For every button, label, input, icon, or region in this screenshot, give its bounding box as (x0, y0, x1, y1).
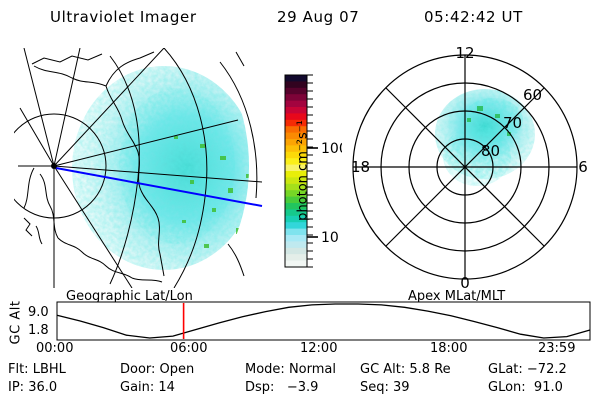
status-field: Door: Open (120, 362, 194, 377)
status-field-value: Normal (289, 362, 336, 377)
status-field-label: GC Alt: (360, 362, 409, 377)
status-field: GC Alt: 5.8 Re (360, 362, 451, 377)
status-field: Gain: 14 (120, 380, 175, 395)
status-field-value: Open (160, 362, 195, 377)
observation-date: 29 Aug 07 (277, 10, 359, 25)
status-field-value: 5.8 Re (409, 362, 450, 377)
mlt-label-6: 6 (578, 158, 588, 176)
status-field: IP: 36.0 (8, 380, 57, 395)
uvi-display-root: Ultraviolet Imager 29 Aug 07 05:42:42 UT (0, 0, 600, 400)
status-field: GLon: 91.0 (488, 380, 563, 395)
observation-time: 05:42:42 UT (424, 10, 523, 25)
status-field-value: 39 (393, 380, 410, 395)
strip-chart-frame (57, 302, 590, 340)
colorbar-axis-label: photon cm⁻²s⁻¹ (297, 86, 310, 256)
status-field-label: Seq: (360, 380, 393, 395)
page-title: Ultraviolet Imager (50, 10, 197, 25)
status-block: Flt: LBHLDoor: OpenMode: NormalGC Alt: 5… (0, 362, 600, 400)
colorbar-tick-label: 10 (321, 230, 339, 246)
status-field-value: −72.2 (527, 362, 567, 377)
colorbar-tick-label: 100 (321, 141, 342, 157)
status-field-label: Gain: (120, 380, 158, 395)
time-tick-1: 06:00 (170, 342, 207, 355)
mlat-label-60: 60 (523, 86, 542, 104)
status-field: Seq: 39 (360, 380, 410, 395)
status-field-label: Flt: (8, 362, 33, 377)
pole-marker (51, 163, 57, 169)
colorbar-tick-labels: 10010 (307, 141, 342, 246)
status-field-label: GLon: (488, 380, 530, 395)
aurora-emission-region (72, 66, 256, 270)
mlt-label-18: 18 (351, 158, 370, 176)
status-field: GLat: −72.2 (488, 362, 567, 377)
mlat-label-70: 70 (503, 114, 522, 132)
time-tick-0: 00:00 (36, 342, 73, 355)
status-field-label: Dsp: (245, 380, 279, 395)
status-field: Flt: LBHL (8, 362, 66, 377)
time-tick-2: 12:00 (300, 342, 337, 355)
mlt-spokes (353, 55, 577, 279)
colorbar-panel: photon cm⁻²s⁻¹ 10010 (266, 72, 342, 278)
geographic-map-panel (14, 48, 266, 288)
status-field-label: Mode: (245, 362, 289, 377)
mlt-label-12: 12 (455, 44, 474, 62)
status-field-value: 91.0 (530, 380, 563, 395)
colorbar-swatch (285, 75, 307, 82)
status-field-value: −3.9 (279, 380, 319, 395)
time-tick-4: 23:59 (538, 342, 575, 355)
geographic-map-svg (14, 48, 266, 288)
polar-plot-svg: 12 6 0 18 60 70 80 (345, 44, 593, 292)
polar-mlat-mlt-panel: 12 6 0 18 60 70 80 (345, 44, 593, 292)
header-bar: Ultraviolet Imager 29 Aug 07 05:42:42 UT (0, 8, 600, 30)
mlat-label-80: 80 (481, 142, 500, 160)
status-field-label: Door: (120, 362, 160, 377)
status-field-value: LBHL (33, 362, 66, 377)
status-field: Mode: Normal (245, 362, 336, 377)
status-field: Dsp: −3.9 (245, 380, 318, 395)
status-field-value: 14 (158, 380, 175, 395)
status-field-label: IP: (8, 380, 28, 395)
status-field-value: 36.0 (28, 380, 57, 395)
status-field-label: GLat: (488, 362, 527, 377)
time-tick-3: 18:00 (430, 342, 467, 355)
